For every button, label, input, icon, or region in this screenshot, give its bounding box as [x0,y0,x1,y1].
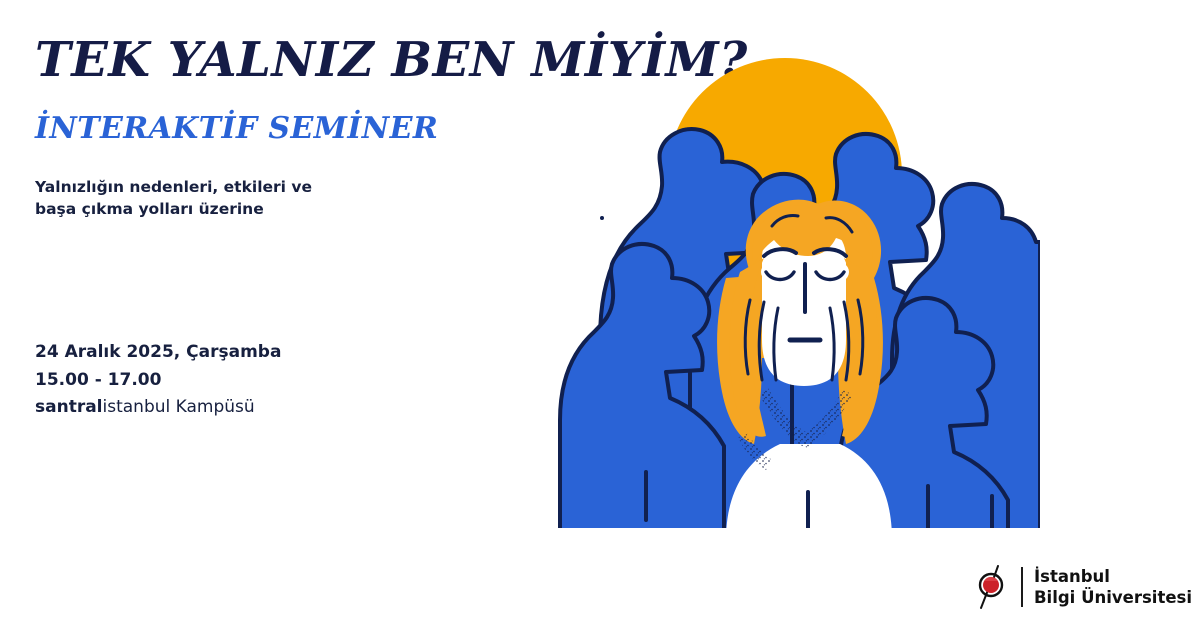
venue-campus-name: istanbul Kampüsü [103,397,255,417]
text-column: TEK YALNIZ BEN MİYİM? İNTERAKTİF SEMİNER… [33,0,573,628]
event-venue: santralistanbul Kampüsü [35,394,281,422]
poster-canvas: TEK YALNIZ BEN MİYİM? İNTERAKTİF SEMİNER… [0,0,1200,628]
crowd-illustration [540,40,1040,540]
event-description: Yalnızlığın nedenleri, etkileri ve başa … [35,176,355,221]
description-line-2: başa çıkma yolları üzerine [35,198,355,220]
university-logo: İstanbul Bilgi Üniversitesi [972,564,1192,610]
event-subtitle: İNTERAKTİF SEMİNER [35,114,438,144]
logo-text: İstanbul Bilgi Üniversitesi [1034,566,1192,608]
event-details: 24 Aralık 2025, Çarşamba 15.00 - 17.00 s… [35,339,281,422]
logo-divider [1021,567,1023,607]
event-time: 15.00 - 17.00 [35,367,281,395]
venue-campus-brand: santral [35,397,103,417]
event-date: 24 Aralık 2025, Çarşamba [35,339,281,367]
description-line-1: Yalnızlığın nedenleri, etkileri ve [35,176,355,198]
logo-text-line-1: İstanbul [1034,566,1192,587]
logo-text-line-2: Bilgi Üniversitesi [1034,587,1192,608]
bilgi-pin-icon [972,564,1010,610]
